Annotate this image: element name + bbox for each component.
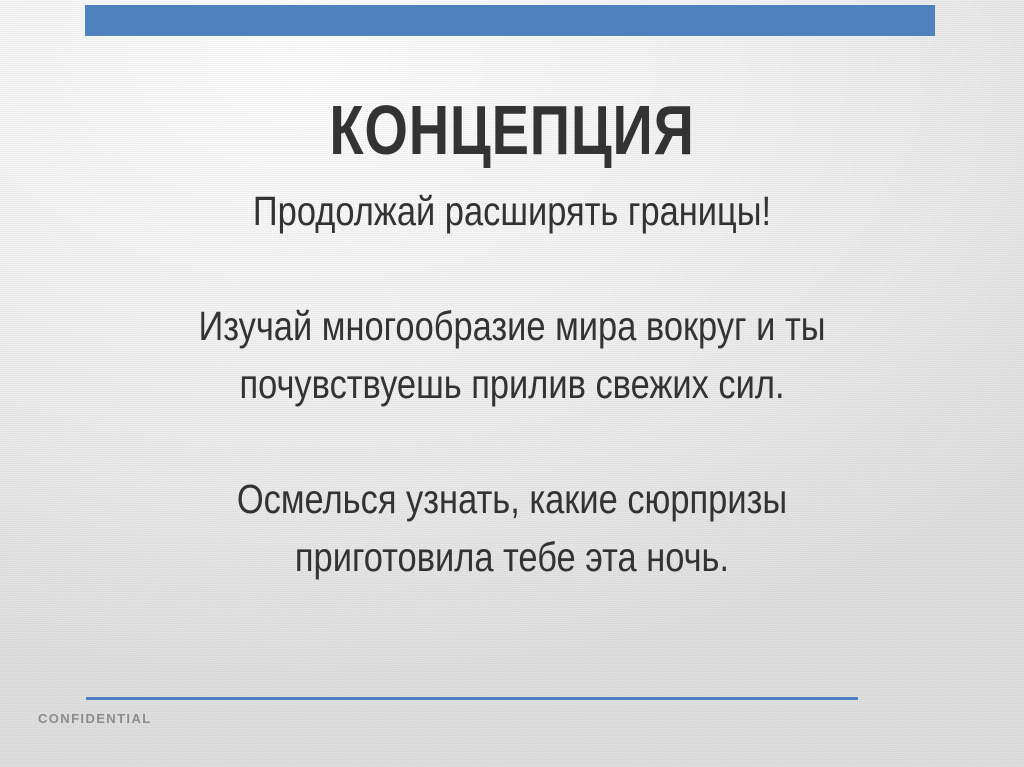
paragraph-spacer: [60, 413, 964, 470]
body-paragraph-3: Осмелься узнать, какие сюрпризы приготов…: [132, 470, 891, 586]
presentation-slide: КОНЦЕПЦИЯ Продолжай расширять границы! И…: [0, 0, 1024, 767]
page-title: КОНЦЕПЦИЯ: [102, 95, 921, 165]
body-line: Продолжай расширять границы!: [132, 182, 891, 240]
body-line: приготовила тебе эта ночь.: [132, 528, 891, 586]
slide-body: Продолжай расширять границы! Изучай мног…: [60, 182, 964, 586]
paragraph-spacer: [60, 240, 964, 297]
body-paragraph-2: Изучай многообразие мира вокруг и ты поч…: [132, 297, 891, 413]
body-paragraph-1: Продолжай расширять границы!: [132, 182, 891, 240]
confidential-label: CONFIDENTIAL: [38, 710, 152, 728]
top-accent-bar: [85, 5, 935, 36]
footer-divider: [86, 697, 858, 700]
body-line: почувствуешь прилив свежих сил.: [132, 355, 891, 413]
body-line: Изучай многообразие мира вокруг и ты: [132, 297, 891, 355]
body-line: Осмелься узнать, какие сюрпризы: [132, 470, 891, 528]
